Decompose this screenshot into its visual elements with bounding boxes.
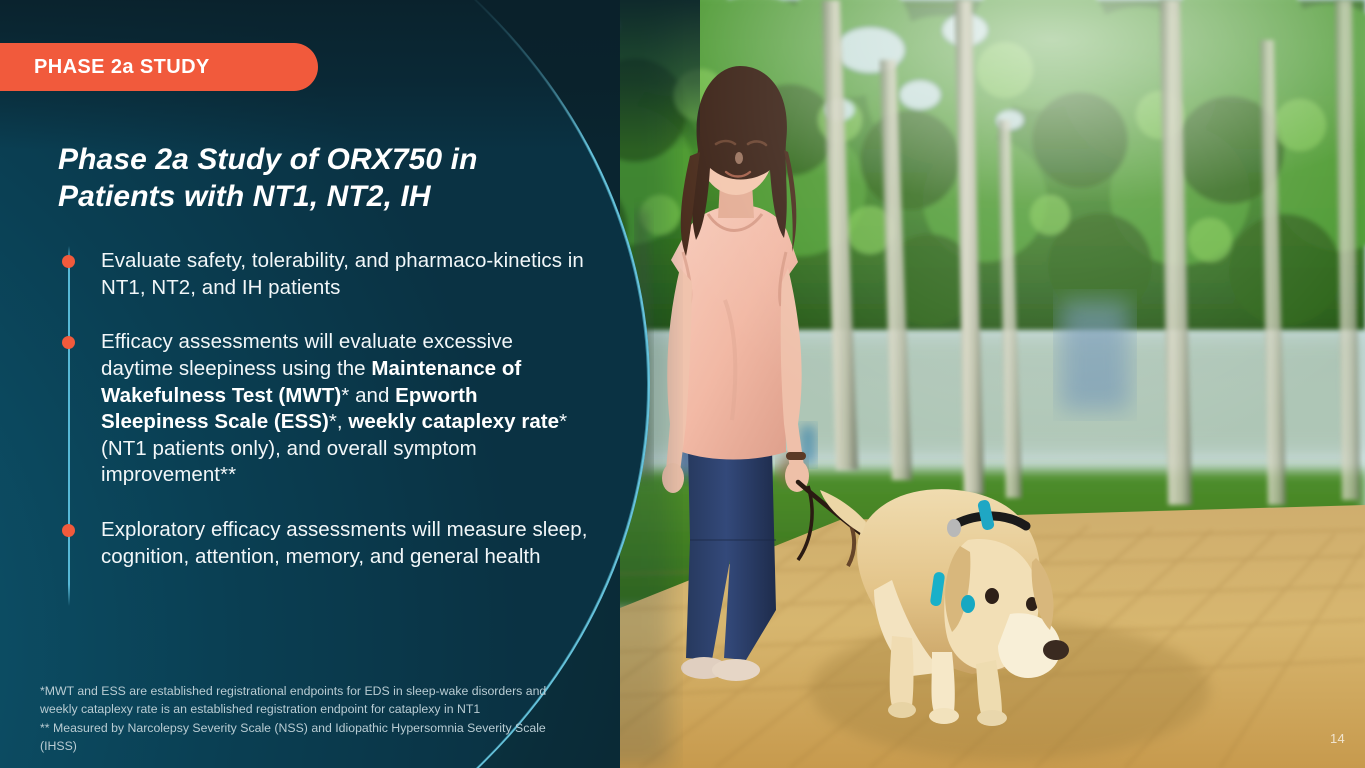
bullet-dot-icon <box>62 336 75 349</box>
body-text: Evaluate safety, tolerability, and pharm… <box>101 249 584 299</box>
list-item-text: Efficacy assessments will evaluate exces… <box>101 329 588 489</box>
list-item: Efficacy assessments will evaluate exces… <box>58 329 588 489</box>
section-badge-label: PHASE 2a STUDY <box>34 56 210 79</box>
list-item-text: Exploratory efficacy assessments will me… <box>101 517 588 570</box>
bullet-list: Evaluate safety, tolerability, and pharm… <box>58 248 588 570</box>
page-title: Phase 2a Study of ORX750 in Patients wit… <box>58 142 528 215</box>
footnote-line: ** Measured by Narcolepsy Severity Scale… <box>40 719 560 756</box>
footnotes: *MWT and ESS are established registratio… <box>40 682 560 756</box>
body-text: * and <box>341 384 395 407</box>
page-number: 14 <box>1330 731 1345 746</box>
slide: PHASE 2a STUDY Phase 2a Study of ORX750 … <box>0 0 1365 768</box>
background-photo <box>540 0 1365 768</box>
list-item-text: Evaluate safety, tolerability, and pharm… <box>101 248 588 301</box>
bullet-dot-icon <box>62 524 75 537</box>
footnote-line: *MWT and ESS are established registratio… <box>40 682 560 719</box>
list-item: Evaluate safety, tolerability, and pharm… <box>58 248 588 301</box>
bullet-dot-icon <box>62 255 75 268</box>
list-item: Exploratory efficacy assessments will me… <box>58 517 588 570</box>
body-text: Exploratory efficacy assessments will me… <box>101 518 587 568</box>
section-badge: PHASE 2a STUDY <box>0 43 318 91</box>
body-text: *, <box>329 410 349 433</box>
emphasis-text: weekly cataplexy rate <box>348 410 559 433</box>
